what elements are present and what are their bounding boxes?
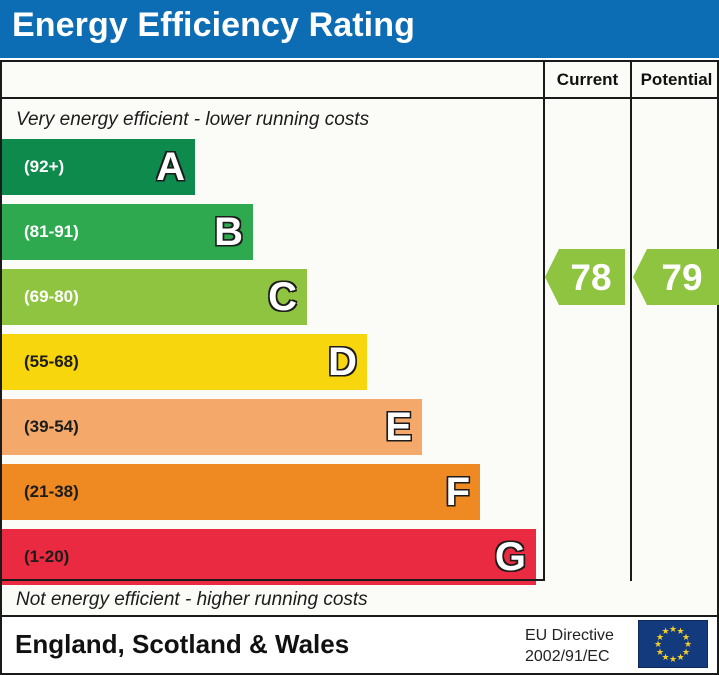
band-range-c: (69-80) [24,287,79,307]
band-letter-c: C [268,277,297,317]
band-range-a: (92+) [24,157,64,177]
band-letter-e: E [385,407,412,447]
band-g: (1-20)G [2,529,536,585]
band-range-d: (55-68) [24,352,79,372]
band-letter-f: F [446,472,470,512]
energy-efficiency-rating-certificate: Energy Efficiency Rating Current Potenti… [0,0,719,675]
band-range-f: (21-38) [24,482,79,502]
band-range-e: (39-54) [24,417,79,437]
eu-star: ★ [669,655,677,663]
band-f: (21-38)F [2,464,480,520]
band-b: (81-91)B [2,204,253,260]
rating-table: Current Potential Very energy efficient … [0,60,719,617]
column-header-current: Current [545,70,630,90]
band-d: (55-68)D [2,334,367,390]
column-divider-potential [630,62,632,581]
title-bar: Energy Efficiency Rating [0,0,719,58]
footer-bar: England, Scotland & Wales EU Directive 2… [0,617,719,675]
band-letter-g: G [495,537,526,577]
band-c: (69-80)C [2,269,307,325]
page-title: Energy Efficiency Rating [12,6,415,45]
caption-inefficient: Not energy efficient - higher running co… [16,589,368,611]
potential-rating-value: 79 [649,259,702,296]
band-letter-a: A [156,147,185,187]
caption-divider-bottom [2,579,543,581]
band-range-g: (1-20) [24,547,69,567]
region-label: England, Scotland & Wales [15,629,349,660]
potential-rating-arrow: 79 [633,249,719,305]
band-letter-d: D [328,342,357,382]
eu-directive-line2: 2002/91/EC [525,646,614,667]
current-rating-arrow: 78 [545,249,625,305]
band-range-b: (81-91) [24,222,79,242]
eu-star: ★ [677,653,685,661]
band-e: (39-54)E [2,399,422,455]
band-letter-b: B [214,212,243,252]
column-divider-current [543,62,545,581]
eu-directive-text: EU Directive 2002/91/EC [525,625,614,667]
eu-star: ★ [662,627,670,635]
band-a: (92+)A [2,139,195,195]
eu-directive-line1: EU Directive [525,625,614,646]
current-rating-value: 78 [558,259,611,296]
column-header-potential: Potential [632,70,719,90]
eu-flag-icon: ★★★★★★★★★★★★ [638,620,708,668]
caption-efficient: Very energy efficient - lower running co… [16,109,369,131]
